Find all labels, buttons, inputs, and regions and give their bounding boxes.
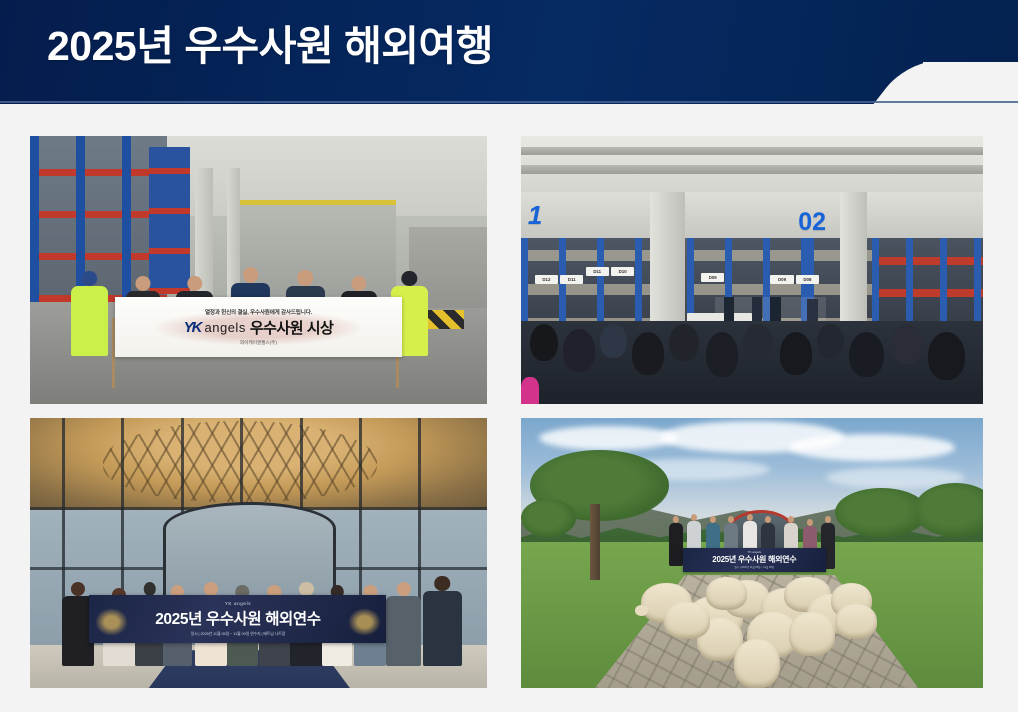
photo-award-ceremony[interactable]: 열정과 헌신의 결실, 우수사원에게 감사드립니다. YK angels 우수사… xyxy=(30,136,487,404)
aisle-sign-d12: D12 xyxy=(535,275,558,284)
yk-angels-logo-lobby: YK angels xyxy=(225,601,251,606)
training-banner-subline: 일시 | 2025년 11월 05일 ~ 11월 09일 연수지 | 베트남 나… xyxy=(191,631,286,637)
page-title: 2025년 우수사원 해외여행 xyxy=(47,20,493,72)
page-header: 2025년 우수사원 해외여행 xyxy=(0,0,1018,104)
photo-sheep-park[interactable]: YK angels 2025년 우수사원 해외연수 일시 | 2025년 11월… xyxy=(521,418,983,688)
training-banner-park: YK angels 2025년 우수사원 해외연수 일시 | 2025년 11월… xyxy=(683,548,826,572)
award-banner-headline: 우수사원 시상 xyxy=(250,317,333,338)
aisle-sign-d08: D08 xyxy=(796,275,819,284)
award-banner-tagline: 열정과 헌신의 결실, 우수사원에게 감사드립니다. xyxy=(205,308,312,316)
photo-sheep-park-scene: YK angels 2025년 우수사원 해외연수 일시 | 2025년 11월… xyxy=(521,418,983,688)
aisle-sign-d09: D09 xyxy=(701,273,724,282)
zone-marker-02: 02 xyxy=(798,208,826,237)
aisle-sign-d11: D11 xyxy=(560,275,583,284)
photo-hotel-lobby[interactable]: YK angels 2025년 우수사원 해외연수 일시 | 2025년 11월… xyxy=(30,418,487,688)
park-banner-subline: 일시 | 2025년 11월 05일 ~ 11월 09일 xyxy=(735,565,774,569)
award-banner: 열정과 헌신의 결실, 우수사원에게 감사드립니다. YK angels 우수사… xyxy=(115,297,403,357)
zone-marker-1: 1 xyxy=(528,200,542,231)
photo-award-ceremony-scene: 열정과 헌신의 결실, 우수사원에게 감사드립니다. YK angels 우수사… xyxy=(30,136,487,404)
photo-hotel-lobby-scene: YK angels 2025년 우수사원 해외연수 일시 | 2025년 11월… xyxy=(30,418,487,688)
angels-logo-word: angels xyxy=(205,320,246,335)
photo-gallery-grid: 열정과 헌신의 결실, 우수사원에게 감사드립니다. YK angels 우수사… xyxy=(30,136,983,688)
aisle-sign-d09b: D09 xyxy=(770,275,793,284)
photo-warehouse-assembly[interactable]: 1 02 D12 D11 D11 D10 D09 D09 D08 xyxy=(521,136,983,404)
aisle-sign-d10: D10 xyxy=(611,267,634,276)
yk-logo-mark: YK xyxy=(184,319,201,336)
training-banner-headline: 2025년 우수사원 해외연수 xyxy=(155,607,320,629)
award-banner-company: 와이케이앤젤스(주) xyxy=(240,340,277,346)
park-banner-headline: 2025년 우수사원 해외연수 xyxy=(712,554,796,565)
header-accent-line xyxy=(0,101,1018,103)
training-banner-lobby: YK angels 2025년 우수사원 해외연수 일시 | 2025년 11월… xyxy=(89,595,386,644)
header-notch-fill xyxy=(923,62,1018,104)
aisle-sign-d11b: D11 xyxy=(586,267,609,276)
photo-warehouse-assembly-scene: 1 02 D12 D11 D11 D10 D09 D09 D08 xyxy=(521,136,983,404)
